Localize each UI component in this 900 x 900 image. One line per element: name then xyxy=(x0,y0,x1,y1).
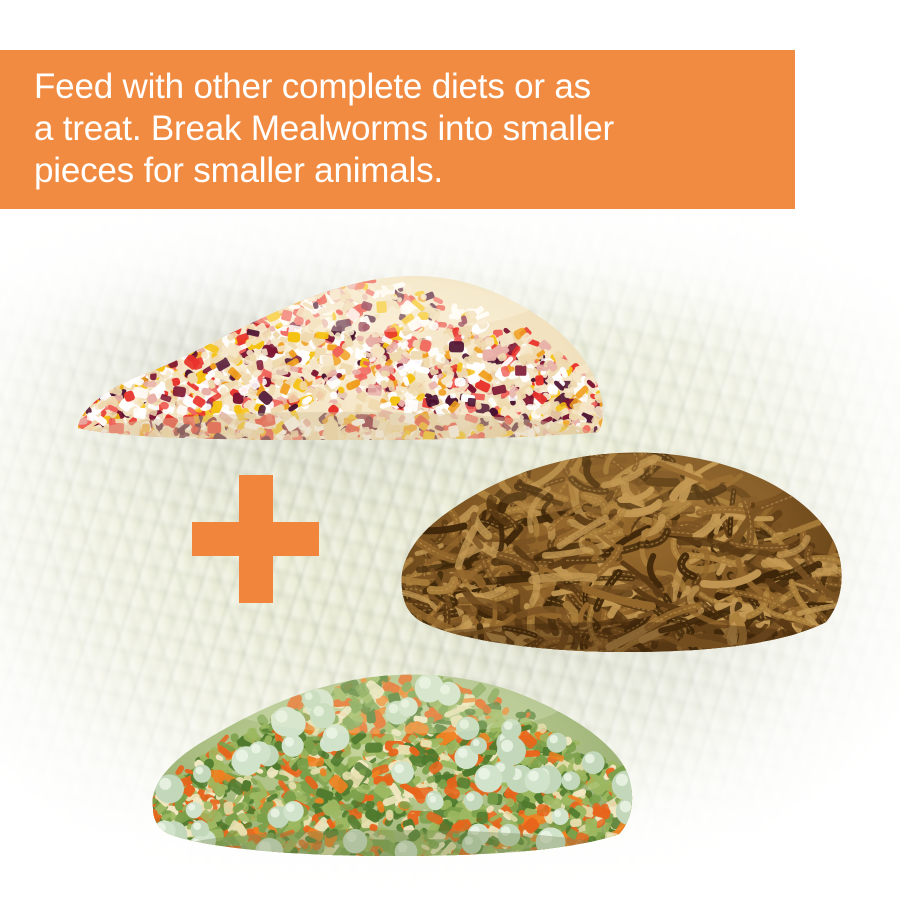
mealworms-pile xyxy=(388,438,852,658)
caption-banner: Feed with other complete diets or as a t… xyxy=(0,50,795,209)
product-panel: Feed with other complete diets or as a t… xyxy=(0,0,900,900)
mealworms-graphic xyxy=(388,438,852,658)
caption-text: Feed with other complete diets or as a t… xyxy=(34,66,765,192)
fruit-nut-mix-graphic xyxy=(70,258,610,440)
fruit-nut-mix-pile xyxy=(70,258,610,440)
vegetable-mix-pile xyxy=(143,652,643,860)
plus-sign xyxy=(192,475,319,603)
vegetable-mix-graphic xyxy=(143,652,643,860)
plus-vertical-bar xyxy=(239,475,273,603)
